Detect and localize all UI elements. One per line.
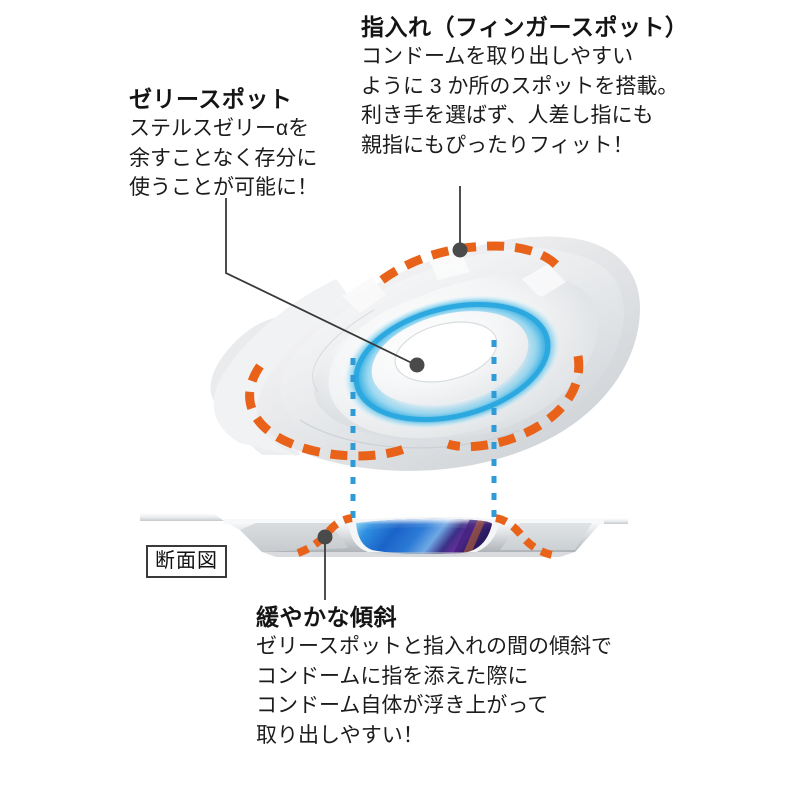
callout-gentle-slope-title: 緩やかな傾斜 — [256, 602, 612, 632]
callout-jelly-spot-line-1: ステルスゼリーαを — [129, 114, 318, 144]
callout-finger-spot-line-1: コンドームを取り出しやすい — [361, 42, 688, 72]
callout-finger-spot-title: 指入れ（フィンガースポット） — [361, 12, 688, 42]
callout-jelly-spot-line-2: 余すことなく存分に — [129, 144, 318, 174]
callout-gentle-slope-line-3: コンドーム自体が浮き上がって — [256, 691, 612, 721]
section-bottom-shadow — [262, 552, 575, 557]
leader-dot-jelly-spot — [410, 358, 425, 373]
diagram-canvas: ゼリースポット ステルスゼリーαを 余すことなく存分に 使うことが可能に！ 指入… — [0, 0, 800, 800]
callout-finger-spot-line-2: ように 3 か所のスポットを搭載。 — [361, 72, 688, 102]
leader-dot-finger-spot — [453, 243, 468, 258]
callout-finger-spot: 指入れ（フィンガースポット） コンドームを取り出しやすい ように 3 か所のスポ… — [361, 12, 688, 160]
callout-gentle-slope-line-1: ゼリースポットと指入れの間の傾斜で — [256, 632, 612, 662]
callout-jelly-spot-line-3: 使うことが可能に！ — [129, 173, 318, 203]
callout-gentle-slope-line-2: コンドームに指を添えた際に — [256, 662, 612, 692]
callout-finger-spot-line-3: 利き手を選ばず、人差し指にも — [361, 101, 688, 131]
callout-jelly-spot: ゼリースポット ステルスゼリーαを 余すことなく存分に 使うことが可能に！ — [129, 84, 318, 203]
leader-dot-gentle-slope — [318, 530, 333, 545]
callout-gentle-slope: 緩やかな傾斜 ゼリースポットと指入れの間の傾斜で コンドームに指を添えた際に コ… — [256, 602, 612, 750]
callout-finger-spot-line-4: 親指にもぴったりフィット！ — [361, 131, 688, 161]
callout-gentle-slope-line-4: 取り出しやすい！ — [256, 721, 612, 751]
cross-section-label: 断面図 — [146, 545, 227, 578]
section-left-flange — [140, 513, 224, 521]
callout-jelly-spot-title: ゼリースポット — [129, 84, 318, 114]
tray-top-view — [211, 237, 640, 471]
